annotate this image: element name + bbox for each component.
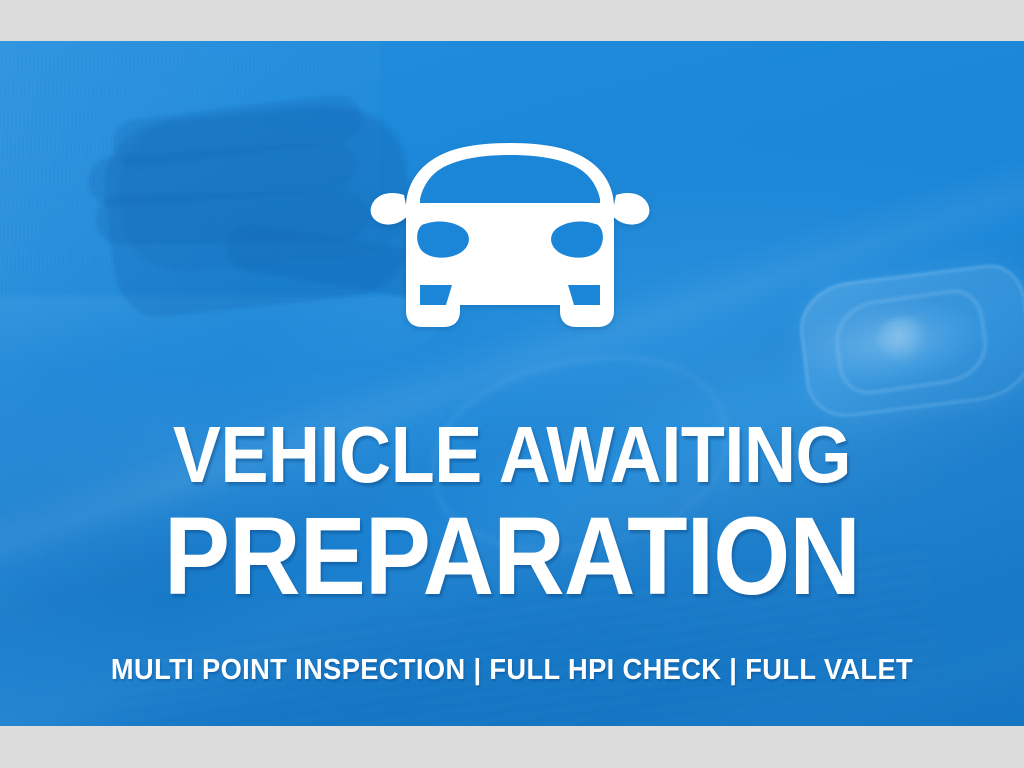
placeholder-image: VEHICLE AWAITING PREPARATION MULTI POINT…: [0, 0, 1024, 768]
car-front-icon: [360, 133, 660, 355]
services-subline: MULTI POINT INSPECTION | FULL HPI CHECK …: [31, 653, 994, 687]
vehicle-status-banner: VEHICLE AWAITING PREPARATION MULTI POINT…: [0, 41, 1024, 726]
letterbox-top: [0, 0, 1024, 41]
headline-line-2: PREPARATION: [51, 505, 973, 609]
headline-line-1: VEHICLE AWAITING: [51, 413, 973, 497]
headline-block: VEHICLE AWAITING PREPARATION MULTI POINT…: [0, 413, 1024, 687]
letterbox-bottom: [0, 726, 1024, 768]
